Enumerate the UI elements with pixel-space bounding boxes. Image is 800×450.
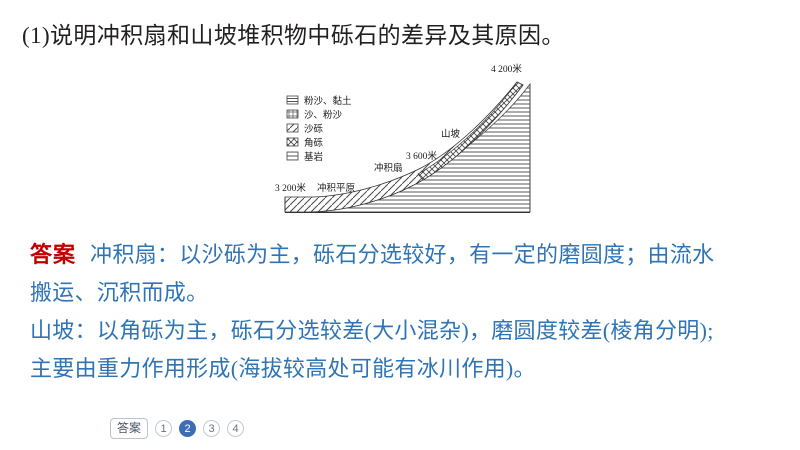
label-hillslope: 山坡 xyxy=(441,128,461,140)
answer-line-4: 主要由重力作用形成(海拔较高处可能有冰川作用)。 xyxy=(30,350,790,388)
label-peak-elevation: 4 200米 xyxy=(491,63,522,75)
pager[interactable]: 答案 1 2 3 4 xyxy=(110,418,244,439)
answer-block: 答案 冲积扇：以沙砾为主，砾石分选较好，有一定的磨圆度；由流水 搬运、沉积而成。… xyxy=(30,236,790,388)
slide-page: (1)说明冲积扇和山坡堆积物中砾石的差异及其原因。 xyxy=(0,0,800,450)
legend-label-silt-clay: 粉沙、黏土 xyxy=(304,95,352,107)
legend-label-sand-gravel: 沙砾 xyxy=(304,123,324,135)
legend-label-bedrock: 基岩 xyxy=(304,151,323,163)
label-alluvial-fan: 冲积扇 xyxy=(374,162,403,174)
pager-dot-4[interactable]: 4 xyxy=(227,420,244,437)
answer-line-1: 冲积扇：以沙砾为主，砾石分选较好，有一定的磨圆度；由流水 xyxy=(90,236,790,274)
answer-tag: 答案 xyxy=(30,236,76,274)
pager-answer-button[interactable]: 答案 xyxy=(110,418,148,439)
geology-cross-section-figure: 粉沙、黏土 沙、粉沙 沙砾 角砾 基岩 4 200米 3 600米 冲积扇 山坡… xyxy=(255,58,555,223)
label-base-elevation: 3 200米 xyxy=(275,182,306,194)
pager-dot-3[interactable]: 3 xyxy=(203,420,220,437)
figure-svg: 粉沙、黏土 沙、粉沙 沙砾 角砾 基岩 4 200米 3 600米 冲积扇 山坡… xyxy=(255,58,555,223)
question-text: (1)说明冲积扇和山坡堆积物中砾石的差异及其原因。 xyxy=(22,20,565,52)
answer-line-2: 搬运、沉积而成。 xyxy=(30,274,790,312)
pager-dot-1[interactable]: 1 xyxy=(155,420,172,437)
figure-legend: 粉沙、黏土 沙、粉沙 沙砾 角砾 基岩 xyxy=(287,95,352,163)
pager-dot-2[interactable]: 2 xyxy=(179,420,196,437)
answer-line-3: 山坡：以角砾为主，砾石分选较差(大小混杂)，磨圆度较差(棱角分明); xyxy=(30,312,790,350)
legend-swatch-sand-gravel xyxy=(287,124,298,132)
legend-swatch-bedrock xyxy=(287,152,298,160)
legend-swatch-angular-gravel xyxy=(287,138,298,146)
legend-label-sand-silt: 沙、粉沙 xyxy=(304,109,343,121)
label-alluvial-plain: 冲积平原 xyxy=(317,182,355,194)
legend-swatch-silt-clay xyxy=(287,96,298,104)
legend-label-angular-gravel: 角砾 xyxy=(304,137,324,149)
legend-swatch-sand-silt xyxy=(287,110,298,118)
label-mid-elevation: 3 600米 xyxy=(406,150,437,162)
answer-first-row: 答案 冲积扇：以沙砾为主，砾石分选较好，有一定的磨圆度；由流水 xyxy=(30,236,790,274)
